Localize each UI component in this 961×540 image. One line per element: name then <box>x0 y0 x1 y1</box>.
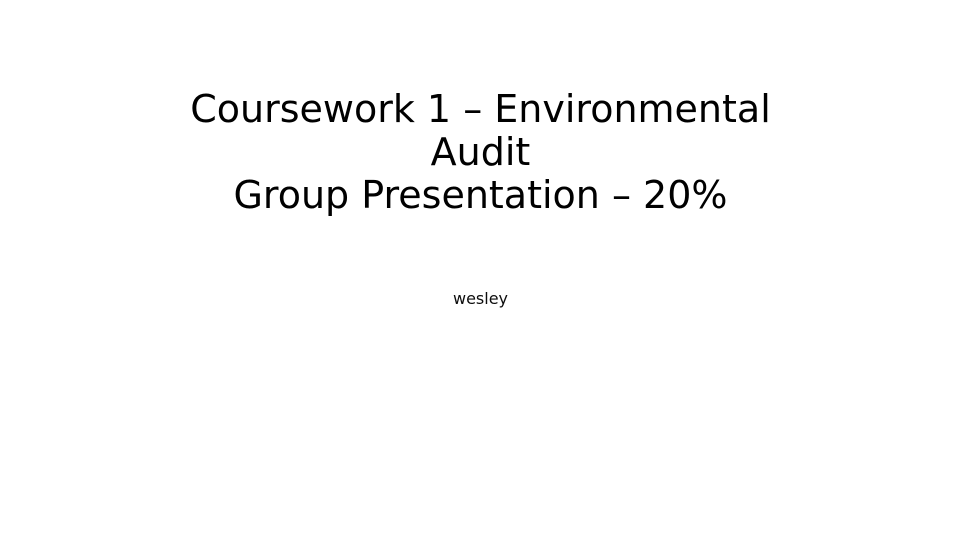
title-line-2: Audit <box>96 131 865 174</box>
title-line-1: Coursework 1 – Environmental <box>96 88 865 131</box>
subtitle-line-1: wesley <box>96 288 865 310</box>
slide-subtitle[interactable]: wesley <box>96 288 865 310</box>
presentation-slide: Coursework 1 – Environmental Audit Group… <box>0 0 961 540</box>
slide-title[interactable]: Coursework 1 – Environmental Audit Group… <box>96 88 865 217</box>
title-line-3: Group Presentation – 20% <box>96 174 865 217</box>
